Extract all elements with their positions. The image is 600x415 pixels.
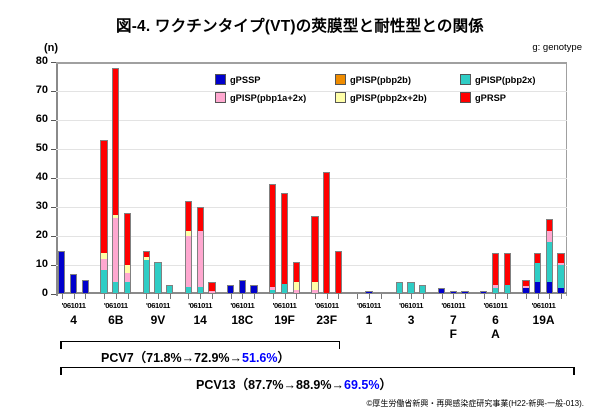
x-axis-tick-mark bbox=[453, 294, 454, 299]
bar-segment-gPISP(pbp2x) bbox=[125, 282, 130, 293]
x-axis-tick-mark bbox=[315, 294, 316, 299]
pcv13-caption-text: PCV13（87.7%→88.9%→ bbox=[196, 378, 344, 392]
bar-segment-gPISP(pbp2x) bbox=[493, 288, 498, 294]
bar-4-11 bbox=[82, 280, 89, 295]
pcv7-caption-tail: ） bbox=[278, 351, 291, 365]
x-axis-tick-mark bbox=[399, 294, 400, 299]
bar-3-10 bbox=[407, 282, 414, 294]
x-axis-tick-mark bbox=[381, 294, 382, 299]
bar-segment-gPISP(pbp1a+2x) bbox=[198, 231, 203, 288]
y-axis-tick-mark bbox=[51, 91, 56, 92]
plot-top-border bbox=[56, 62, 567, 64]
x-axis-sub-label: '061011 bbox=[140, 301, 175, 310]
bar-segment-gPISP(pbp2x) bbox=[505, 285, 510, 293]
figure-container: 図-4. ワクチンタイプ(VT)の莢膜型と耐性型との関係 g: genotype… bbox=[0, 0, 600, 415]
x-axis-tick-mark bbox=[74, 294, 75, 299]
pcv13-caption: PCV13（87.7%→88.9%→69.5%） bbox=[196, 374, 392, 393]
y-axis-tick-label: 10 bbox=[22, 258, 48, 270]
plot-area bbox=[56, 62, 567, 294]
bar-segment-gPISP(pbp2x) bbox=[547, 242, 552, 282]
bar-segment-gPSSP bbox=[59, 252, 64, 294]
pcv13-bracket bbox=[60, 367, 575, 368]
x-axis-sub-label: '061011 bbox=[436, 301, 471, 310]
x-axis-sub-label: '061011 bbox=[98, 301, 133, 310]
y-axis-tick-mark bbox=[51, 236, 56, 237]
x-axis-tick-mark bbox=[170, 294, 171, 299]
bar-segment-gPRSP bbox=[505, 254, 510, 284]
x-axis-tick-mark bbox=[526, 294, 527, 299]
bar-19F-11 bbox=[293, 262, 300, 294]
x-axis-tick-mark bbox=[116, 294, 117, 299]
bar-segment-gPISP(pbp2x) bbox=[270, 290, 275, 293]
bar-segment-gPISP(pbp1a+2x) bbox=[312, 290, 317, 293]
y-axis-tick-label: 60 bbox=[22, 113, 48, 125]
bar-segment-gPRSP bbox=[312, 217, 317, 282]
x-axis-tick-mark bbox=[338, 294, 339, 299]
x-axis-tick-mark bbox=[285, 294, 286, 299]
x-axis-tick-mark bbox=[146, 294, 147, 299]
y-axis-tick-label: 70 bbox=[22, 84, 48, 96]
bar-segment-gPISP(pbp2x) bbox=[101, 270, 106, 293]
x-axis-group-sublabel-7F: F bbox=[436, 327, 471, 341]
x-axis-tick-mark bbox=[549, 294, 550, 299]
bar-segment-gPRSP bbox=[186, 202, 191, 230]
bar-segment-gPSSP bbox=[240, 281, 245, 294]
bar-9V-10 bbox=[154, 262, 161, 294]
bar-segment-gPRSP bbox=[558, 254, 563, 262]
bar-segment-gPSSP bbox=[523, 288, 528, 293]
bar-19A-x bbox=[557, 253, 564, 294]
bracket-tick-right bbox=[573, 368, 575, 375]
y-axis-tick-mark bbox=[51, 178, 56, 179]
bar-9V-'06 bbox=[143, 251, 150, 295]
x-axis-sub-label: '061011 bbox=[56, 301, 91, 310]
x-axis-tick-mark bbox=[273, 294, 274, 299]
x-axis-tick-mark bbox=[158, 294, 159, 299]
bar-segment-gPISP(pbp1a+2x) bbox=[125, 273, 130, 281]
bar-segment-gPSSP bbox=[481, 292, 486, 293]
x-axis-tick-mark bbox=[369, 294, 370, 299]
x-axis-sub-label: '061011 bbox=[183, 301, 218, 310]
bar-6B-10 bbox=[112, 68, 119, 294]
bar-segment-gPSSP bbox=[535, 282, 540, 293]
bar-segment-gPRSP bbox=[294, 263, 299, 282]
y-axis-unit-label: (n) bbox=[44, 42, 58, 54]
pcv7-caption-text: PCV7（71.8%→72.9%→ bbox=[101, 351, 242, 365]
bar-segment-gPSSP bbox=[558, 288, 563, 294]
bar-segment-gPISP(pbp2x) bbox=[397, 283, 402, 293]
bar-19A-11 bbox=[546, 219, 553, 294]
x-axis-group-label-1: 1 bbox=[351, 313, 386, 327]
bar-segment-gPISP(pbp2x) bbox=[113, 282, 118, 293]
x-axis-sub-label: '061011 bbox=[267, 301, 302, 310]
bar-segment-gPISP(pbp2x) bbox=[186, 287, 191, 293]
bar-6B-11 bbox=[124, 213, 131, 294]
x-axis-sub-label: '061011 bbox=[225, 301, 260, 310]
y-axis-tick-mark bbox=[51, 62, 56, 63]
x-axis-group-sublabel-6A: A bbox=[478, 327, 513, 341]
x-axis-tick-mark bbox=[561, 294, 562, 299]
bar-segment-gPISP(pbp2x) bbox=[144, 260, 149, 293]
footer-credit: ©厚生労働省新興・再興感染症研究事業(H22-新興-一般-013). bbox=[367, 398, 584, 409]
x-axis-group-label-19F: 19F bbox=[267, 313, 302, 327]
x-axis-tick-mark bbox=[484, 294, 485, 299]
x-axis-group-label-14: 14 bbox=[183, 313, 218, 327]
x-axis-group-label-18C: 18C bbox=[225, 313, 260, 327]
bar-segment-gPRSP bbox=[270, 185, 275, 287]
x-axis-tick-mark bbox=[231, 294, 232, 299]
bar-18C-'06 bbox=[227, 285, 234, 294]
bar-segment-gPISP(pbp2x) bbox=[558, 265, 563, 287]
bar-23F-'06 bbox=[311, 216, 318, 294]
bar-segment-gPISP(pbp2x) bbox=[282, 284, 287, 293]
bar-segment-gPISP(pbp2x) bbox=[408, 283, 413, 293]
bar-segment-gPISP(pbp2x+2b) bbox=[125, 265, 130, 273]
y-axis-tick-mark bbox=[51, 149, 56, 150]
y-axis-tick-mark bbox=[51, 294, 56, 295]
x-axis-tick-mark bbox=[254, 294, 255, 299]
x-axis-group-label-4: 4 bbox=[56, 313, 91, 327]
bar-4-'06 bbox=[58, 251, 65, 295]
bar-segment-gPISP(pbp1a+2x) bbox=[101, 259, 106, 270]
bar-segment-gPISP(pbp2x) bbox=[167, 286, 172, 293]
x-axis-group-label-9V: 9V bbox=[140, 313, 175, 327]
bar-3-11 bbox=[419, 285, 426, 294]
bar-segment-gPSSP bbox=[462, 292, 467, 293]
bar-segment-gPSSP bbox=[228, 286, 233, 293]
x-axis-tick-mark bbox=[495, 294, 496, 299]
x-axis-tick-mark bbox=[62, 294, 63, 299]
x-axis-tick-mark bbox=[411, 294, 412, 299]
x-axis-tick-mark bbox=[465, 294, 466, 299]
x-axis-tick-mark bbox=[357, 294, 358, 299]
x-axis-group-label-6B: 6B bbox=[98, 313, 133, 327]
bar-19A-10 bbox=[534, 253, 541, 294]
bar-segment-gPRSP bbox=[493, 254, 498, 284]
bar-segment-gPRSP bbox=[336, 252, 341, 294]
x-axis-group-label-23F: 23F bbox=[309, 313, 344, 327]
y-axis-tick-mark bbox=[51, 120, 56, 121]
y-axis-tick-label: 80 bbox=[22, 55, 48, 67]
x-axis-tick-mark bbox=[85, 294, 86, 299]
gridline bbox=[56, 207, 567, 208]
bar-segment-gPISP(pbp2x) bbox=[198, 287, 203, 293]
pcv7-caption-highlight: 51.6% bbox=[242, 351, 277, 365]
bar-18C-11 bbox=[250, 285, 257, 294]
bar-14-11 bbox=[208, 282, 215, 294]
pcv7-bracket bbox=[60, 341, 340, 342]
page-title: 図-4. ワクチンタイプ(VT)の莢膜型と耐性型との関係 bbox=[0, 14, 600, 36]
x-axis-sub-label: '061011 bbox=[351, 301, 386, 310]
bar-segment-gPISP(pbp2x) bbox=[155, 263, 160, 293]
bar-19F-'06 bbox=[269, 184, 276, 294]
x-axis-tick-mark bbox=[128, 294, 129, 299]
x-axis-group-label-7F: 7 bbox=[436, 313, 471, 327]
bar-segment-gPRSP bbox=[535, 254, 540, 262]
y-axis-tick-label: 0 bbox=[22, 287, 48, 299]
x-axis-group-label-6A: 6 bbox=[478, 313, 513, 327]
x-axis-sub-label: '061011 bbox=[309, 301, 344, 310]
pcv13-caption-tail: ） bbox=[379, 378, 392, 392]
bar-segment-gPRSP bbox=[282, 194, 287, 285]
gridline bbox=[56, 149, 567, 150]
bracket-tick-right bbox=[339, 342, 341, 349]
bar-segment-gPISP(pbp1a+2x) bbox=[294, 290, 299, 293]
x-axis-sub-label: '061011 bbox=[394, 301, 429, 310]
gridline bbox=[56, 91, 567, 92]
bar-segment-gPSSP bbox=[547, 282, 552, 293]
bracket-tick-left bbox=[60, 368, 62, 375]
y-axis-tick-label: 20 bbox=[22, 229, 48, 241]
bar-segment-gPSSP bbox=[83, 281, 88, 294]
x-axis-tick-mark bbox=[104, 294, 105, 299]
y-axis-tick-label: 40 bbox=[22, 171, 48, 183]
bar-segment-gPISP(pbp2x) bbox=[420, 286, 425, 293]
bar-segment-gPRSP bbox=[125, 214, 130, 265]
bar-segment-gPISP(pbp1a+2x) bbox=[209, 291, 214, 293]
bar-segment-gPSSP bbox=[439, 289, 444, 293]
bar-14-10 bbox=[197, 207, 204, 294]
x-axis-tick-mark bbox=[242, 294, 243, 299]
gridline bbox=[56, 178, 567, 179]
y-axis-tick-label: 30 bbox=[22, 200, 48, 212]
bar-segment-gPSSP bbox=[71, 275, 76, 293]
bar-segment-gPRSP bbox=[209, 283, 214, 290]
bar-segment-gPRSP bbox=[101, 141, 106, 253]
bar-6A-11 bbox=[504, 253, 511, 294]
bar-19F-10 bbox=[281, 193, 288, 295]
bracket-tick-left bbox=[60, 342, 62, 349]
bar-segment-gPRSP bbox=[324, 173, 329, 293]
bar-6B-'06 bbox=[100, 140, 107, 294]
pcv7-caption: PCV7（71.8%→72.9%→51.6%） bbox=[101, 347, 290, 366]
x-axis-tick-mark bbox=[538, 294, 539, 299]
x-axis-tick-mark bbox=[423, 294, 424, 299]
genotype-note: g: genotype bbox=[532, 42, 582, 53]
bar-3-'06 bbox=[396, 282, 403, 294]
x-axis-sub-label: '061011 bbox=[478, 301, 513, 310]
bar-segment-gPSSP bbox=[251, 286, 256, 293]
bar-4-10 bbox=[70, 274, 77, 294]
x-axis-tick-mark bbox=[200, 294, 201, 299]
bar-segment-gPISP(pbp1a+2x) bbox=[113, 218, 118, 281]
y-axis-tick-label: 50 bbox=[22, 142, 48, 154]
y-axis-tick-mark bbox=[51, 265, 56, 266]
x-axis-tick-mark bbox=[507, 294, 508, 299]
bar-14-'06 bbox=[185, 201, 192, 294]
x-axis-tick-mark bbox=[442, 294, 443, 299]
bar-segment-gPISP(pbp2x+2b) bbox=[312, 282, 317, 290]
pcv13-caption-highlight: 69.5% bbox=[344, 378, 379, 392]
y-axis-tick-mark bbox=[51, 207, 56, 208]
bar-23F-10 bbox=[323, 172, 330, 294]
x-axis-tick-mark bbox=[188, 294, 189, 299]
bar-segment-gPISP(pbp2x) bbox=[535, 263, 540, 282]
bar-segment-gPISP(pbp2x+2b) bbox=[294, 282, 299, 290]
bar-segment-gPSSP bbox=[366, 292, 371, 293]
bar-segment-gPISP(pbp1a+2x) bbox=[186, 236, 191, 287]
x-axis-group-label-19A: 19A bbox=[520, 313, 567, 327]
x-axis-tick-mark bbox=[212, 294, 213, 299]
bar-18C-10 bbox=[239, 280, 246, 295]
bar-segment-gPRSP bbox=[113, 69, 118, 216]
x-axis-group-label-3: 3 bbox=[394, 313, 429, 327]
gridline bbox=[56, 120, 567, 121]
bar-23F-11 bbox=[335, 251, 342, 295]
x-axis-sub-label: '061011 bbox=[520, 301, 567, 310]
bar-segment-gPISP(pbp1a+2x) bbox=[547, 231, 552, 242]
bar-segment-gPRSP bbox=[547, 220, 552, 231]
bar-segment-gPSSP bbox=[451, 292, 456, 293]
bar-segment-gPRSP bbox=[198, 208, 203, 231]
x-axis-tick-mark bbox=[327, 294, 328, 299]
x-axis-tick-mark bbox=[296, 294, 297, 299]
bar-9V-11 bbox=[166, 285, 173, 294]
bar-6A-10 bbox=[492, 253, 499, 294]
bar-19A-'06 bbox=[522, 280, 529, 295]
